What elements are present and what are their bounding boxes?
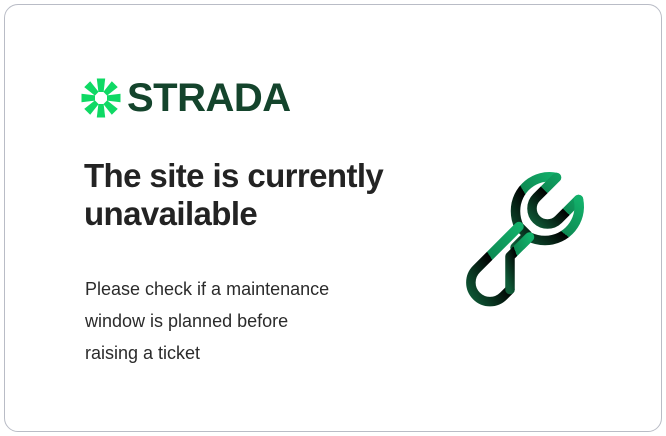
page-title: The site is currently unavailable	[84, 157, 414, 233]
wrench-icon	[457, 155, 623, 321]
brand-logo: STRADA	[81, 75, 291, 121]
description-line: raising a ticket	[85, 337, 405, 369]
description-line: window is planned before	[85, 305, 405, 337]
starburst-asterisk-icon	[81, 78, 121, 118]
page-description: Please check if a maintenance window is …	[85, 273, 405, 369]
brand-wordmark: STRADA	[127, 78, 291, 118]
description-line: Please check if a maintenance	[85, 273, 405, 305]
maintenance-card: STRADA The site is currently unavailable…	[4, 4, 662, 432]
maintenance-page: STRADA The site is currently unavailable…	[0, 0, 666, 436]
